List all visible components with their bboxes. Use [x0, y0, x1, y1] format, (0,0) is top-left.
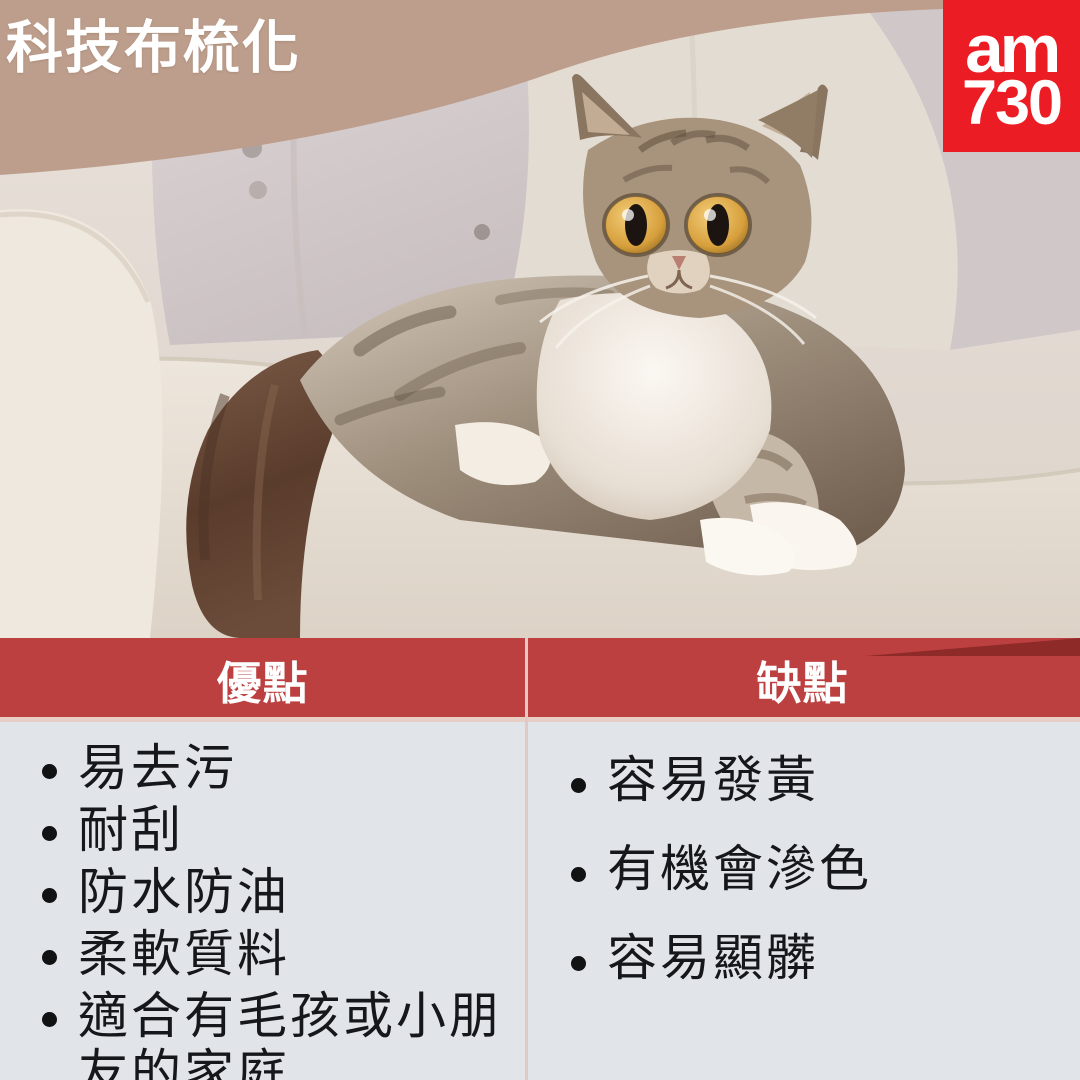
logo-text-am: am	[965, 22, 1057, 78]
list-item: 適合有毛孩或小朋友的家庭	[34, 988, 517, 1080]
list-item: 防水防油	[34, 864, 517, 921]
am730-logo[interactable]: am 730	[943, 0, 1080, 152]
list-item: 容易顯髒	[563, 930, 1072, 987]
cat-photo-illustration	[0, 0, 1080, 638]
column-divider-header	[525, 638, 528, 717]
column-cons: 容易發黃 有機會滲色 容易顯髒	[525, 722, 1080, 1080]
hero-photo	[0, 0, 1080, 638]
list-item: 易去污	[34, 740, 517, 797]
poster-root: 科技布梳化 am 730 優點 缺點 易去污 耐刮 防水防油 柔軟質料 適合有毛…	[0, 0, 1080, 1080]
list-item: 有機會滲色	[563, 841, 1072, 898]
pros-list: 易去污 耐刮 防水防油 柔軟質料 適合有毛孩或小朋友的家庭	[34, 740, 517, 1080]
cons-list: 容易發黃 有機會滲色 容易顯髒	[563, 752, 1072, 987]
table-body: 易去污 耐刮 防水防油 柔軟質料 適合有毛孩或小朋友的家庭 容易發黃 有機會滲色…	[0, 722, 1080, 1080]
list-item: 柔軟質料	[34, 926, 517, 983]
column-header-pros: 優點	[0, 638, 525, 717]
column-header-cons: 缺點	[525, 638, 1080, 717]
column-pros: 易去污 耐刮 防水防油 柔軟質料 適合有毛孩或小朋友的家庭	[0, 722, 525, 1080]
list-item: 容易發黃	[563, 752, 1072, 809]
list-item: 耐刮	[34, 802, 517, 859]
page-title: 科技布梳化	[6, 8, 526, 88]
table-header-row: 優點 缺點	[0, 638, 1080, 717]
